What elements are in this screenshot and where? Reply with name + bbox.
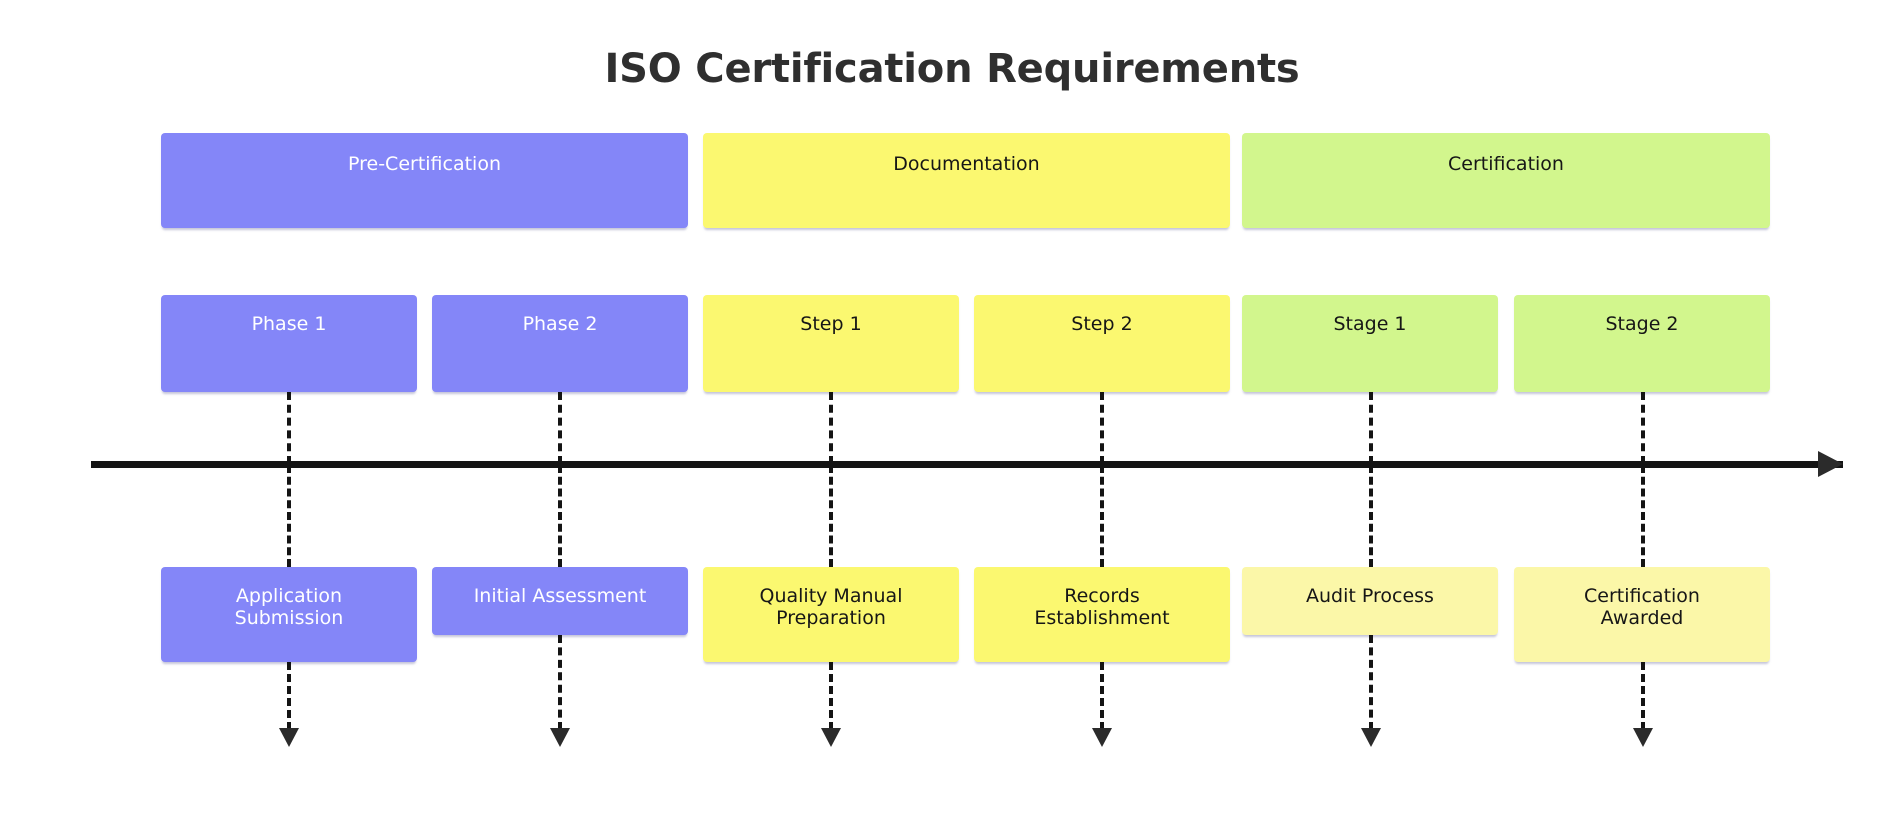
detail-box-application-submission[interactable]: Application Submission	[161, 567, 417, 662]
category-bar-documentation[interactable]: Documentation	[703, 133, 1230, 228]
phase-box-label: Stage 2	[1514, 313, 1770, 335]
connector-dashed-1-upper	[287, 392, 291, 464]
phase-box-phase-2[interactable]: Phase 2	[432, 295, 688, 392]
category-bar-label: Pre-Certification	[161, 153, 688, 175]
detail-box-label: Audit Process	[1242, 585, 1498, 607]
phase-box-label: Step 1	[703, 313, 959, 335]
connector-dashed-6-mid	[1641, 465, 1645, 567]
detail-box-label: Records Establishment	[974, 585, 1230, 630]
connector-dashed-3-lower	[829, 662, 833, 730]
connector-arrowhead-5	[1361, 728, 1381, 747]
phase-box-label: Stage 1	[1242, 313, 1498, 335]
connector-dashed-3-upper	[829, 392, 833, 464]
detail-box-initial-assessment[interactable]: Initial Assessment	[432, 567, 688, 635]
detail-box-label: Quality Manual Preparation	[703, 585, 959, 630]
connector-dashed-3-mid	[829, 465, 833, 567]
category-bar-label: Certification	[1242, 153, 1770, 175]
phase-box-stage-1[interactable]: Stage 1	[1242, 295, 1498, 392]
connector-arrowhead-3	[821, 728, 841, 747]
timeline-axis-arrowhead	[1818, 451, 1843, 477]
category-bar-pre-certification[interactable]: Pre-Certification	[161, 133, 688, 228]
connector-dashed-5-lower	[1369, 635, 1373, 730]
connector-dashed-2-upper	[558, 392, 562, 464]
connector-arrowhead-6	[1633, 728, 1653, 747]
detail-box-label: Application Submission	[161, 585, 417, 630]
phase-box-label: Step 2	[974, 313, 1230, 335]
connector-dashed-5-upper	[1369, 392, 1373, 464]
page-title: ISO Certification Requirements	[0, 46, 1904, 92]
detail-box-quality-manual-preparation[interactable]: Quality Manual Preparation	[703, 567, 959, 662]
connector-dashed-2-lower	[558, 635, 562, 730]
connector-dashed-1-mid	[287, 465, 291, 567]
detail-box-certification-awarded[interactable]: Certification Awarded	[1514, 567, 1770, 662]
category-bar-label: Documentation	[703, 153, 1230, 175]
phase-box-phase-1[interactable]: Phase 1	[161, 295, 417, 392]
phase-box-stage-2[interactable]: Stage 2	[1514, 295, 1770, 392]
connector-arrowhead-1	[279, 728, 299, 747]
phase-box-step-1[interactable]: Step 1	[703, 295, 959, 392]
detail-box-label: Certification Awarded	[1514, 585, 1770, 630]
category-bar-certification[interactable]: Certification	[1242, 133, 1770, 228]
detail-box-audit-process[interactable]: Audit Process	[1242, 567, 1498, 635]
phase-box-label: Phase 2	[432, 313, 688, 335]
connector-arrowhead-2	[550, 728, 570, 747]
connector-dashed-4-upper	[1100, 392, 1104, 464]
connector-dashed-6-upper	[1641, 392, 1645, 464]
phase-box-label: Phase 1	[161, 313, 417, 335]
timeline-diagram: ISO Certification Requirements Pre-Certi…	[0, 0, 1904, 815]
connector-dashed-4-mid	[1100, 465, 1104, 567]
detail-box-label: Initial Assessment	[432, 585, 688, 607]
timeline-axis	[91, 461, 1843, 468]
connector-dashed-1-lower	[287, 662, 291, 730]
connector-dashed-6-lower	[1641, 662, 1645, 730]
phase-box-step-2[interactable]: Step 2	[974, 295, 1230, 392]
connector-arrowhead-4	[1092, 728, 1112, 747]
connector-dashed-4-lower	[1100, 662, 1104, 730]
connector-dashed-5-mid	[1369, 465, 1373, 567]
detail-box-records-establishment[interactable]: Records Establishment	[974, 567, 1230, 662]
connector-dashed-2-mid	[558, 465, 562, 567]
